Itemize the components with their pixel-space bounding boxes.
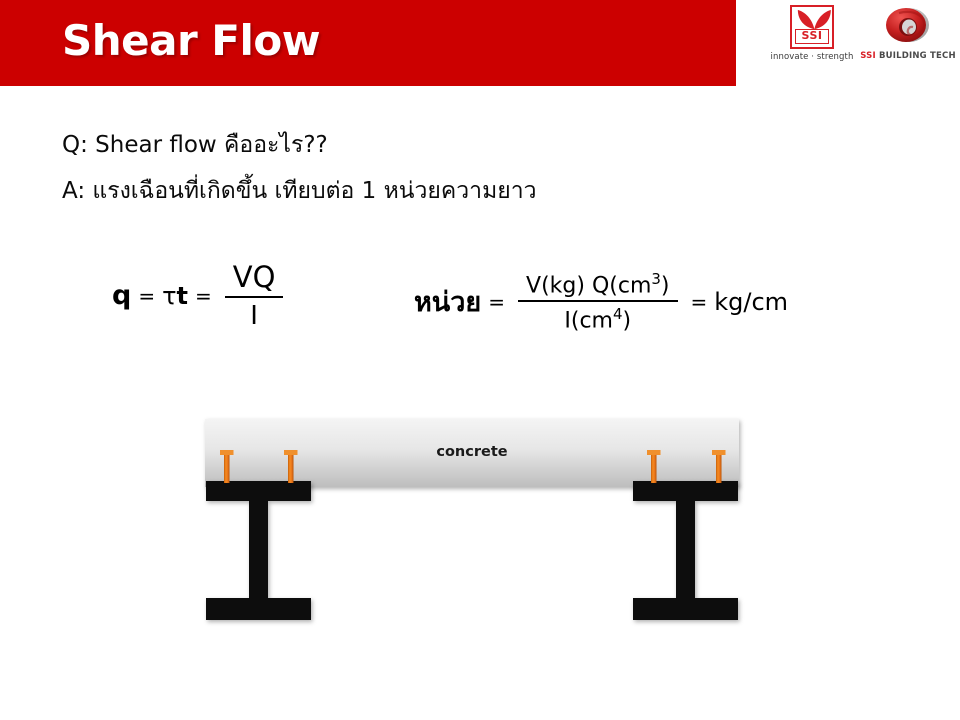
eq1-fraction: VQ I — [225, 260, 284, 331]
eq1-denominator: I — [225, 296, 284, 331]
eq2-num-kg: (kg) — [541, 273, 585, 298]
concrete-slab: concrete — [205, 419, 739, 487]
ssi-logo: SSI innovate · strength — [766, 5, 858, 62]
question-line: Q: Shear flow คืออะไร?? — [62, 128, 862, 164]
eq2-den-close: ) — [623, 309, 632, 334]
eq1-equals-2: = — [195, 284, 212, 308]
shear-stud-3 — [647, 450, 661, 483]
ssi-logo-wordmark: SSI — [795, 29, 829, 44]
ssi-logo-tagline: innovate · strength — [766, 52, 858, 62]
eq1-numerator: VQ — [225, 260, 284, 296]
qa-block: Q: Shear flow คืออะไร?? A: แรงเฉือนที่เก… — [62, 128, 862, 219]
eq2-fraction: V(kg) Q(cm3) I(cm4) — [518, 270, 677, 334]
eq2-equals-2: = — [691, 290, 708, 314]
eq2-den-I: I(cm — [564, 309, 613, 334]
eq1-thickness-symbol: t — [177, 282, 188, 310]
eq2-equals-1: = — [488, 290, 505, 314]
equation-units: หน่วย = V(kg) Q(cm3) I(cm4) = kg/cm — [414, 270, 788, 334]
ssi-building-tech-tagline: SSI BUILDING TECH — [860, 51, 956, 61]
right-beam-top-flange — [633, 481, 738, 501]
answer-line: A: แรงเฉือนที่เกิดขึ้น เทียบต่อ 1 หน่วยค… — [62, 174, 862, 210]
shear-stud-2 — [284, 450, 298, 483]
eq2-lhs-unit-label: หน่วย — [414, 280, 481, 323]
eq2-num-Q: Q(cm — [592, 273, 651, 298]
left-beam-bottom-flange — [206, 598, 311, 620]
eq2-numerator: V(kg) Q(cm3) — [518, 270, 677, 300]
shear-stud-4 — [712, 450, 726, 483]
eq2-result: kg/cm — [714, 288, 788, 316]
i-beam-right — [633, 481, 738, 620]
coil-icon-svg — [885, 5, 931, 47]
eq2-num-exponent: 3 — [651, 270, 661, 288]
ssi-logo-mark-icon: SSI — [790, 5, 834, 49]
eq2-den-exponent: 4 — [613, 305, 623, 323]
page-title: Shear Flow — [62, 16, 320, 65]
eq2-denominator: I(cm4) — [518, 300, 677, 333]
right-beam-bottom-flange — [633, 598, 738, 620]
composite-beam-diagram: concrete — [0, 0, 960, 720]
bt-rest-text: BUILDING TECH — [876, 51, 956, 61]
left-beam-web — [249, 498, 268, 601]
bt-brand-text: SSI — [860, 51, 876, 61]
concrete-label: concrete — [436, 444, 507, 460]
eq1-tau-symbol: τ — [162, 282, 176, 310]
eq1-lhs: q — [112, 280, 131, 311]
eq1-equals-1: = — [138, 284, 155, 308]
logo-zone: SSI innovate · strength — [736, 0, 960, 86]
ssi-building-tech-logo: SSI BUILDING TECH — [860, 5, 956, 61]
shear-studs — [220, 450, 726, 483]
equation-shear-flow: q = τ t = VQ I — [112, 260, 289, 331]
eq2-num-close: ) — [661, 273, 670, 298]
coil-icon — [885, 5, 931, 47]
equation-row: q = τ t = VQ I หน่วย = V(kg) Q(cm3) I(cm… — [0, 252, 960, 357]
i-beam-left — [206, 481, 311, 620]
eq2-num-V: V — [526, 273, 541, 298]
ssi-leaf-icon — [796, 9, 833, 31]
right-beam-web — [676, 498, 695, 601]
shear-stud-1 — [220, 450, 234, 483]
left-beam-top-flange — [206, 481, 311, 501]
